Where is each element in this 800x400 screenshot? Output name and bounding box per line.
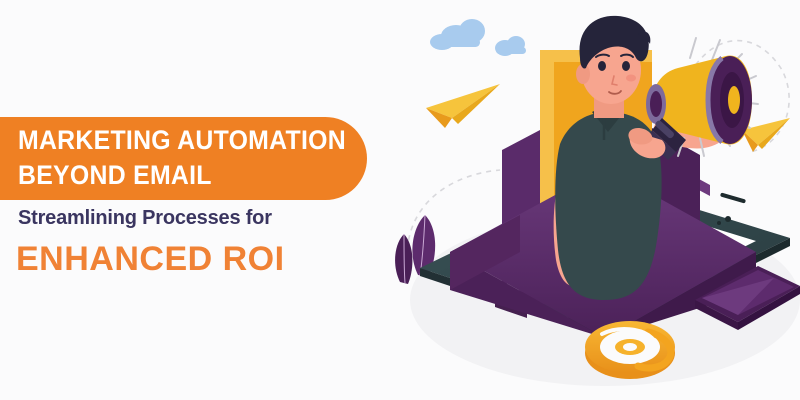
- promo-banner: MARKETING AUTOMATION BEYOND EMAIL Stream…: [0, 0, 800, 400]
- headline-pill: MARKETING AUTOMATION BEYOND EMAIL: [0, 117, 367, 200]
- paper-plane-left-icon: [426, 84, 500, 128]
- at-symbol-icon: [585, 321, 675, 379]
- illustration: New email: [390, 0, 800, 400]
- headline-line-2: BEYOND EMAIL: [18, 158, 339, 193]
- roi-headline: ENHANCED ROI: [16, 240, 285, 279]
- cloud-small-icon: [495, 36, 526, 56]
- cloud-large-icon: [430, 19, 485, 50]
- headline-line-1: MARKETING AUTOMATION: [18, 123, 339, 158]
- subheadline: Streamlining Processes for: [18, 207, 272, 230]
